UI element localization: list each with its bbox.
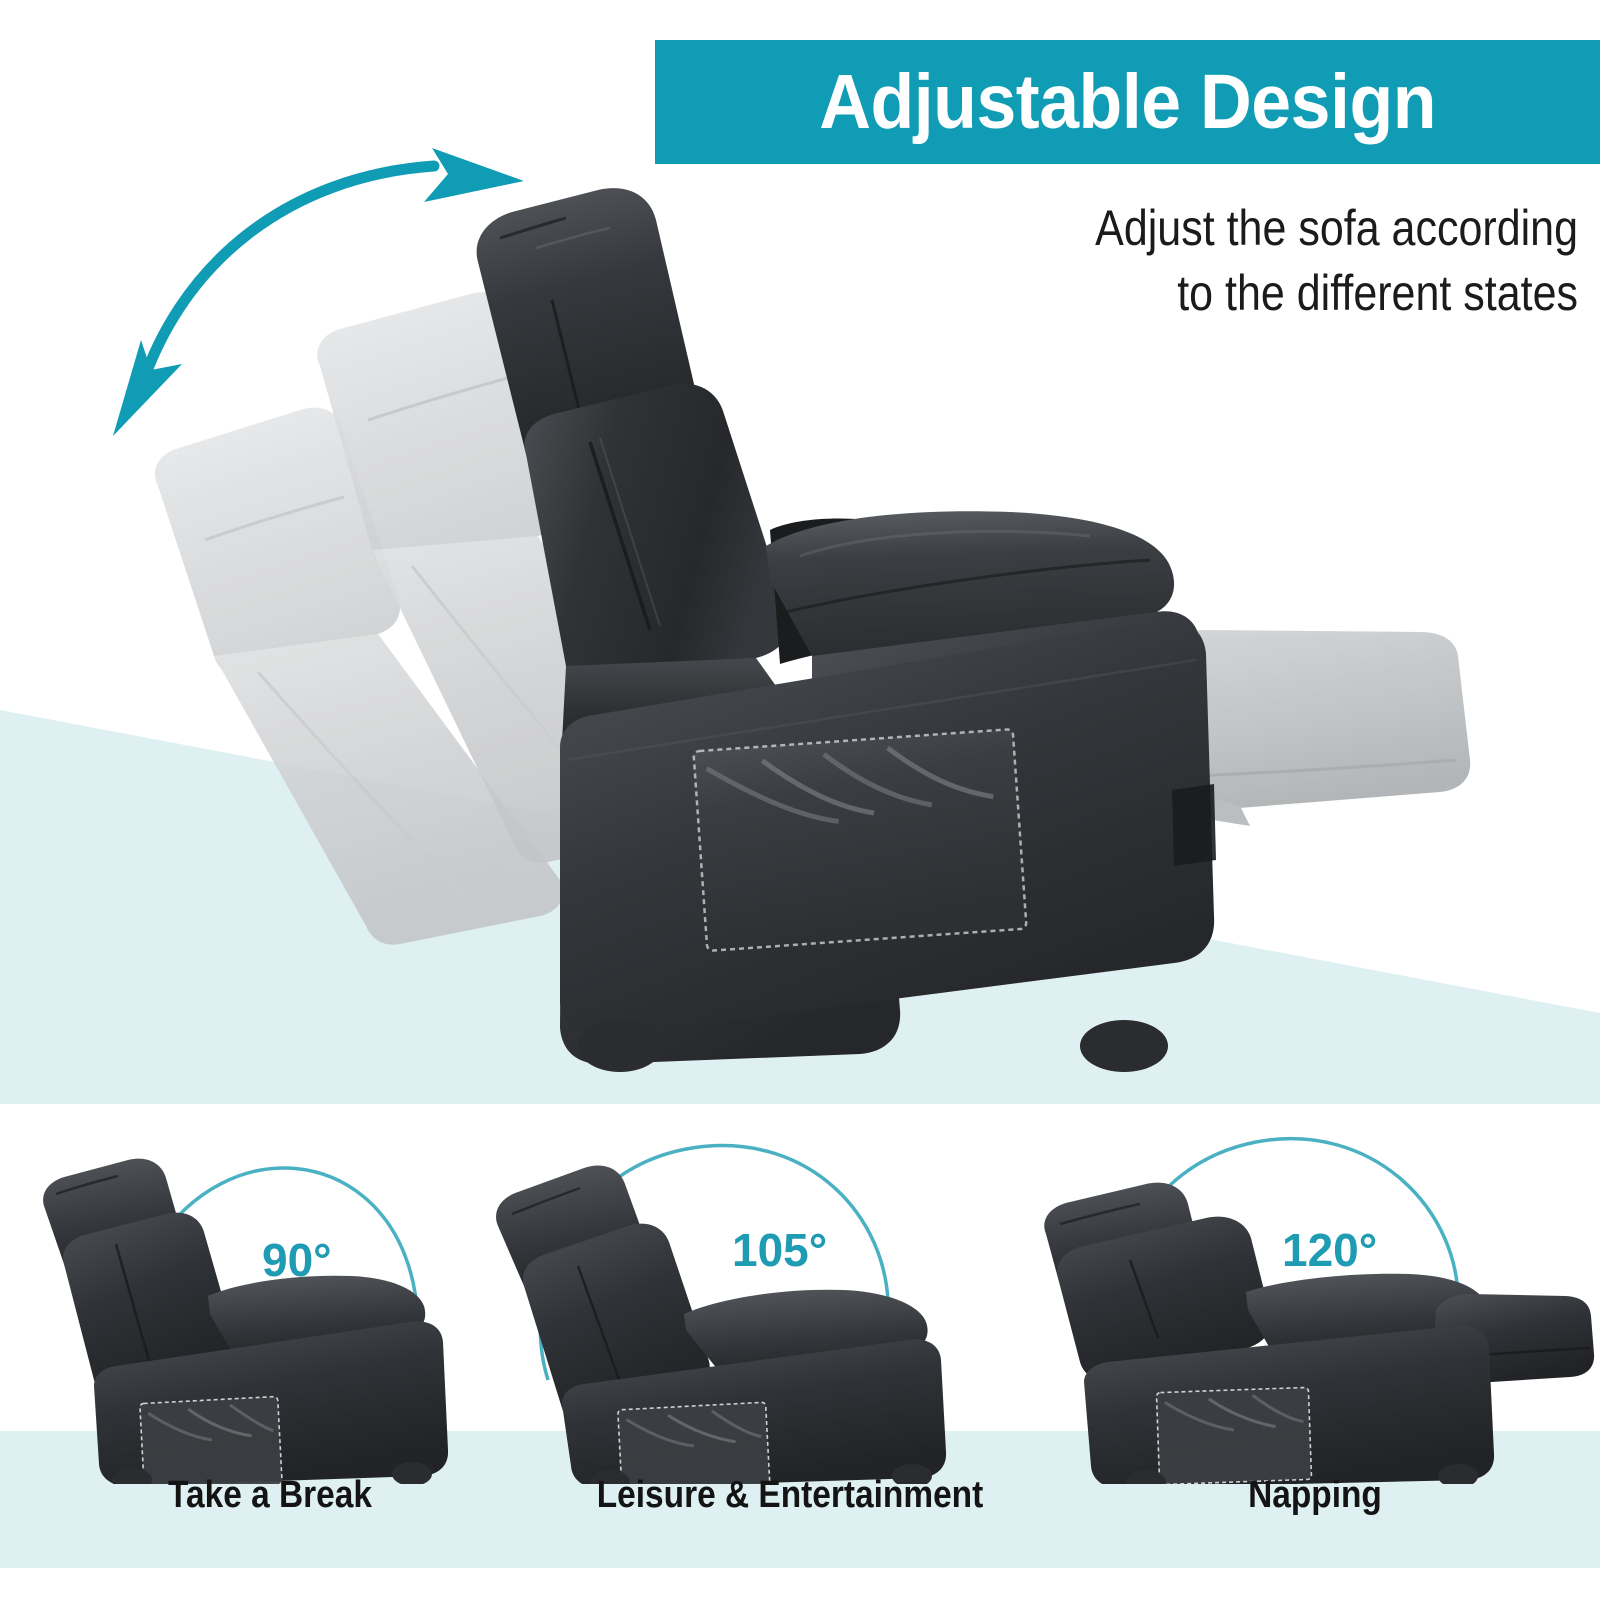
recliner-foot-left — [578, 1020, 662, 1072]
state-caption-3: Napping — [1064, 1474, 1566, 1517]
hero-product-illustration — [0, 0, 1600, 1104]
arrow-head-left — [113, 340, 182, 436]
angle-label-90: 90° — [262, 1234, 332, 1286]
ghost-footrest-extended — [1170, 630, 1470, 826]
subtitle-block: Adjust the sofa according to the differe… — [821, 196, 1578, 326]
angle-label-105: 105° — [732, 1224, 827, 1276]
headline-text: Adjustable Design — [819, 64, 1436, 141]
states-section: 90° Take a Break — [0, 1104, 1600, 1600]
state-caption-2: Leisure & Entertainment — [508, 1474, 1071, 1517]
subtitle-line-2: to the different states — [821, 261, 1578, 326]
state-caption-1: Take a Break — [32, 1474, 507, 1517]
infographic-root: Adjustable Design Adjust the sofa accord… — [0, 0, 1600, 1600]
state-panel-take-a-break[interactable]: 90° Take a Break — [0, 1104, 540, 1600]
states-panel-row: 90° Take a Break — [0, 1104, 1600, 1600]
state-panel-napping[interactable]: 120° Napping — [1030, 1104, 1600, 1600]
angle-label-120: 120° — [1282, 1224, 1377, 1276]
arrow-head-right — [424, 148, 524, 202]
headline-banner: Adjustable Design — [655, 40, 1600, 164]
side-pocket — [693, 729, 1026, 951]
recliner-upright-icon: 90° — [0, 1114, 540, 1484]
hero-section: Adjustable Design Adjust the sofa accord… — [0, 0, 1600, 1104]
recliner-reclined-icon: 105° — [470, 1114, 1110, 1484]
subtitle-line-1: Adjust the sofa according — [821, 196, 1578, 261]
state-panel-leisure-entertainment[interactable]: 105° Leisure & Entertainment — [470, 1104, 1110, 1600]
recliner-foot-right — [1080, 1020, 1168, 1072]
recliner-fully-reclined-icon: 120° — [1030, 1114, 1600, 1484]
